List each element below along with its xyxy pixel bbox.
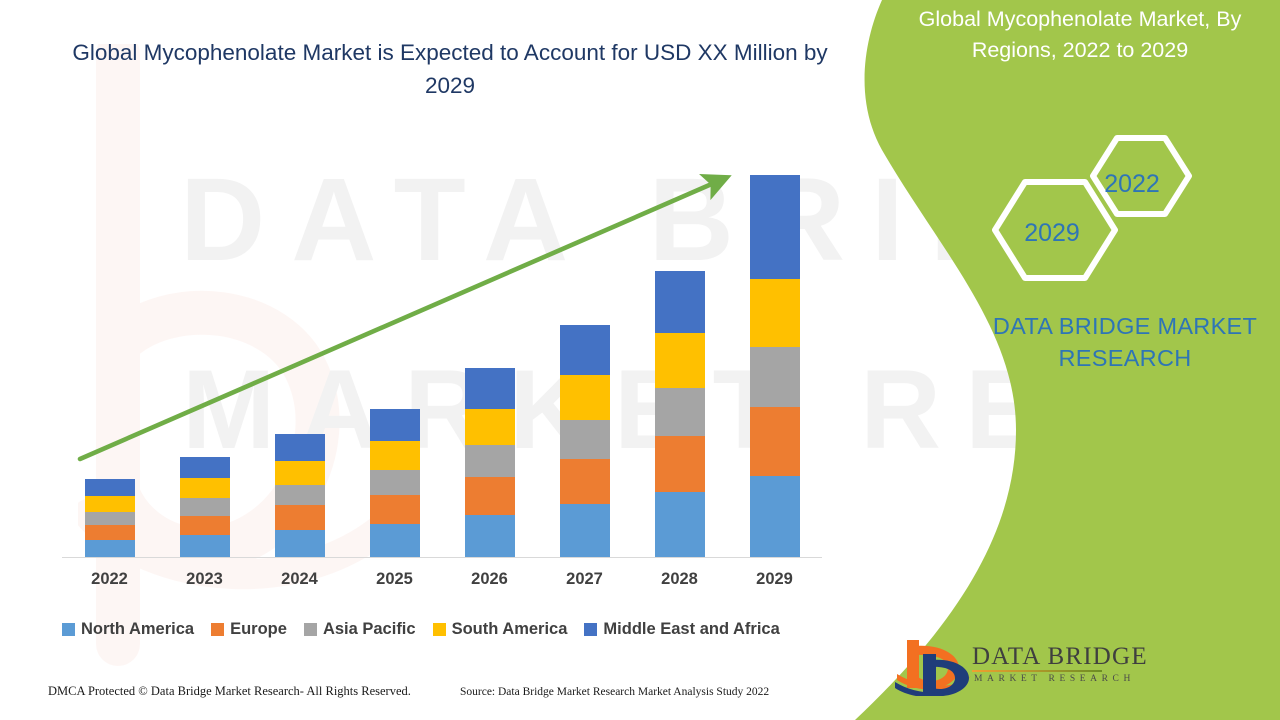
brand-name: DATA BRIDGE MARKET RESEARCH [975, 310, 1275, 374]
chart-title: Global Mycophenolate Market is Expected … [60, 36, 840, 102]
legend-item-1[interactable]: Europe [211, 620, 287, 639]
x-label-2025: 2025 [355, 570, 435, 589]
legend-label: South America [452, 620, 568, 639]
x-label-2023: 2023 [165, 570, 245, 589]
legend-label: North America [81, 620, 194, 639]
copyright-notice: DMCA Protected © Data Bridge Market Rese… [48, 684, 411, 699]
legend-swatch-icon [584, 623, 597, 636]
x-label-2028: 2028 [640, 570, 720, 589]
legend-label: Europe [230, 620, 287, 639]
x-label-2024: 2024 [260, 570, 340, 589]
x-label-2022: 2022 [70, 570, 150, 589]
trend-arrow-icon [62, 150, 822, 560]
legend-swatch-icon [62, 623, 75, 636]
source-note: Source: Data Bridge Market Research Mark… [460, 686, 769, 698]
logo-subtitle: MARKET RESEARCH [974, 674, 1135, 684]
legend-swatch-icon [433, 623, 446, 636]
legend-swatch-icon [304, 623, 317, 636]
legend-label: Middle East and Africa [603, 620, 779, 639]
slide-canvas: DATA BRIDGE MARKET RESEARCH Global Mycop… [0, 0, 1280, 720]
legend-item-0[interactable]: North America [62, 620, 194, 639]
hexagon-2029-label: 2029 [1012, 219, 1092, 248]
x-label-2026: 2026 [450, 570, 530, 589]
legend-label: Asia Pacific [323, 620, 416, 639]
legend-item-3[interactable]: South America [433, 620, 568, 639]
hexagon-2022-label: 2022 [1092, 170, 1172, 199]
x-label-2027: 2027 [545, 570, 625, 589]
x-axis-labels: 20222023202420252026202720282029 [62, 570, 822, 598]
logo-wordmark: DATA BRIDGE [972, 643, 1148, 671]
panel-title: Global Mycophenolate Market, By Regions,… [880, 4, 1280, 66]
hexagon-badges [975, 130, 1195, 290]
legend-swatch-icon [211, 623, 224, 636]
legend-item-2[interactable]: Asia Pacific [304, 620, 416, 639]
x-label-2029: 2029 [735, 570, 815, 589]
logo-divider [972, 670, 1102, 672]
legend-item-4[interactable]: Middle East and Africa [584, 620, 779, 639]
chart-legend: North AmericaEuropeAsia PacificSouth Ame… [62, 617, 832, 641]
